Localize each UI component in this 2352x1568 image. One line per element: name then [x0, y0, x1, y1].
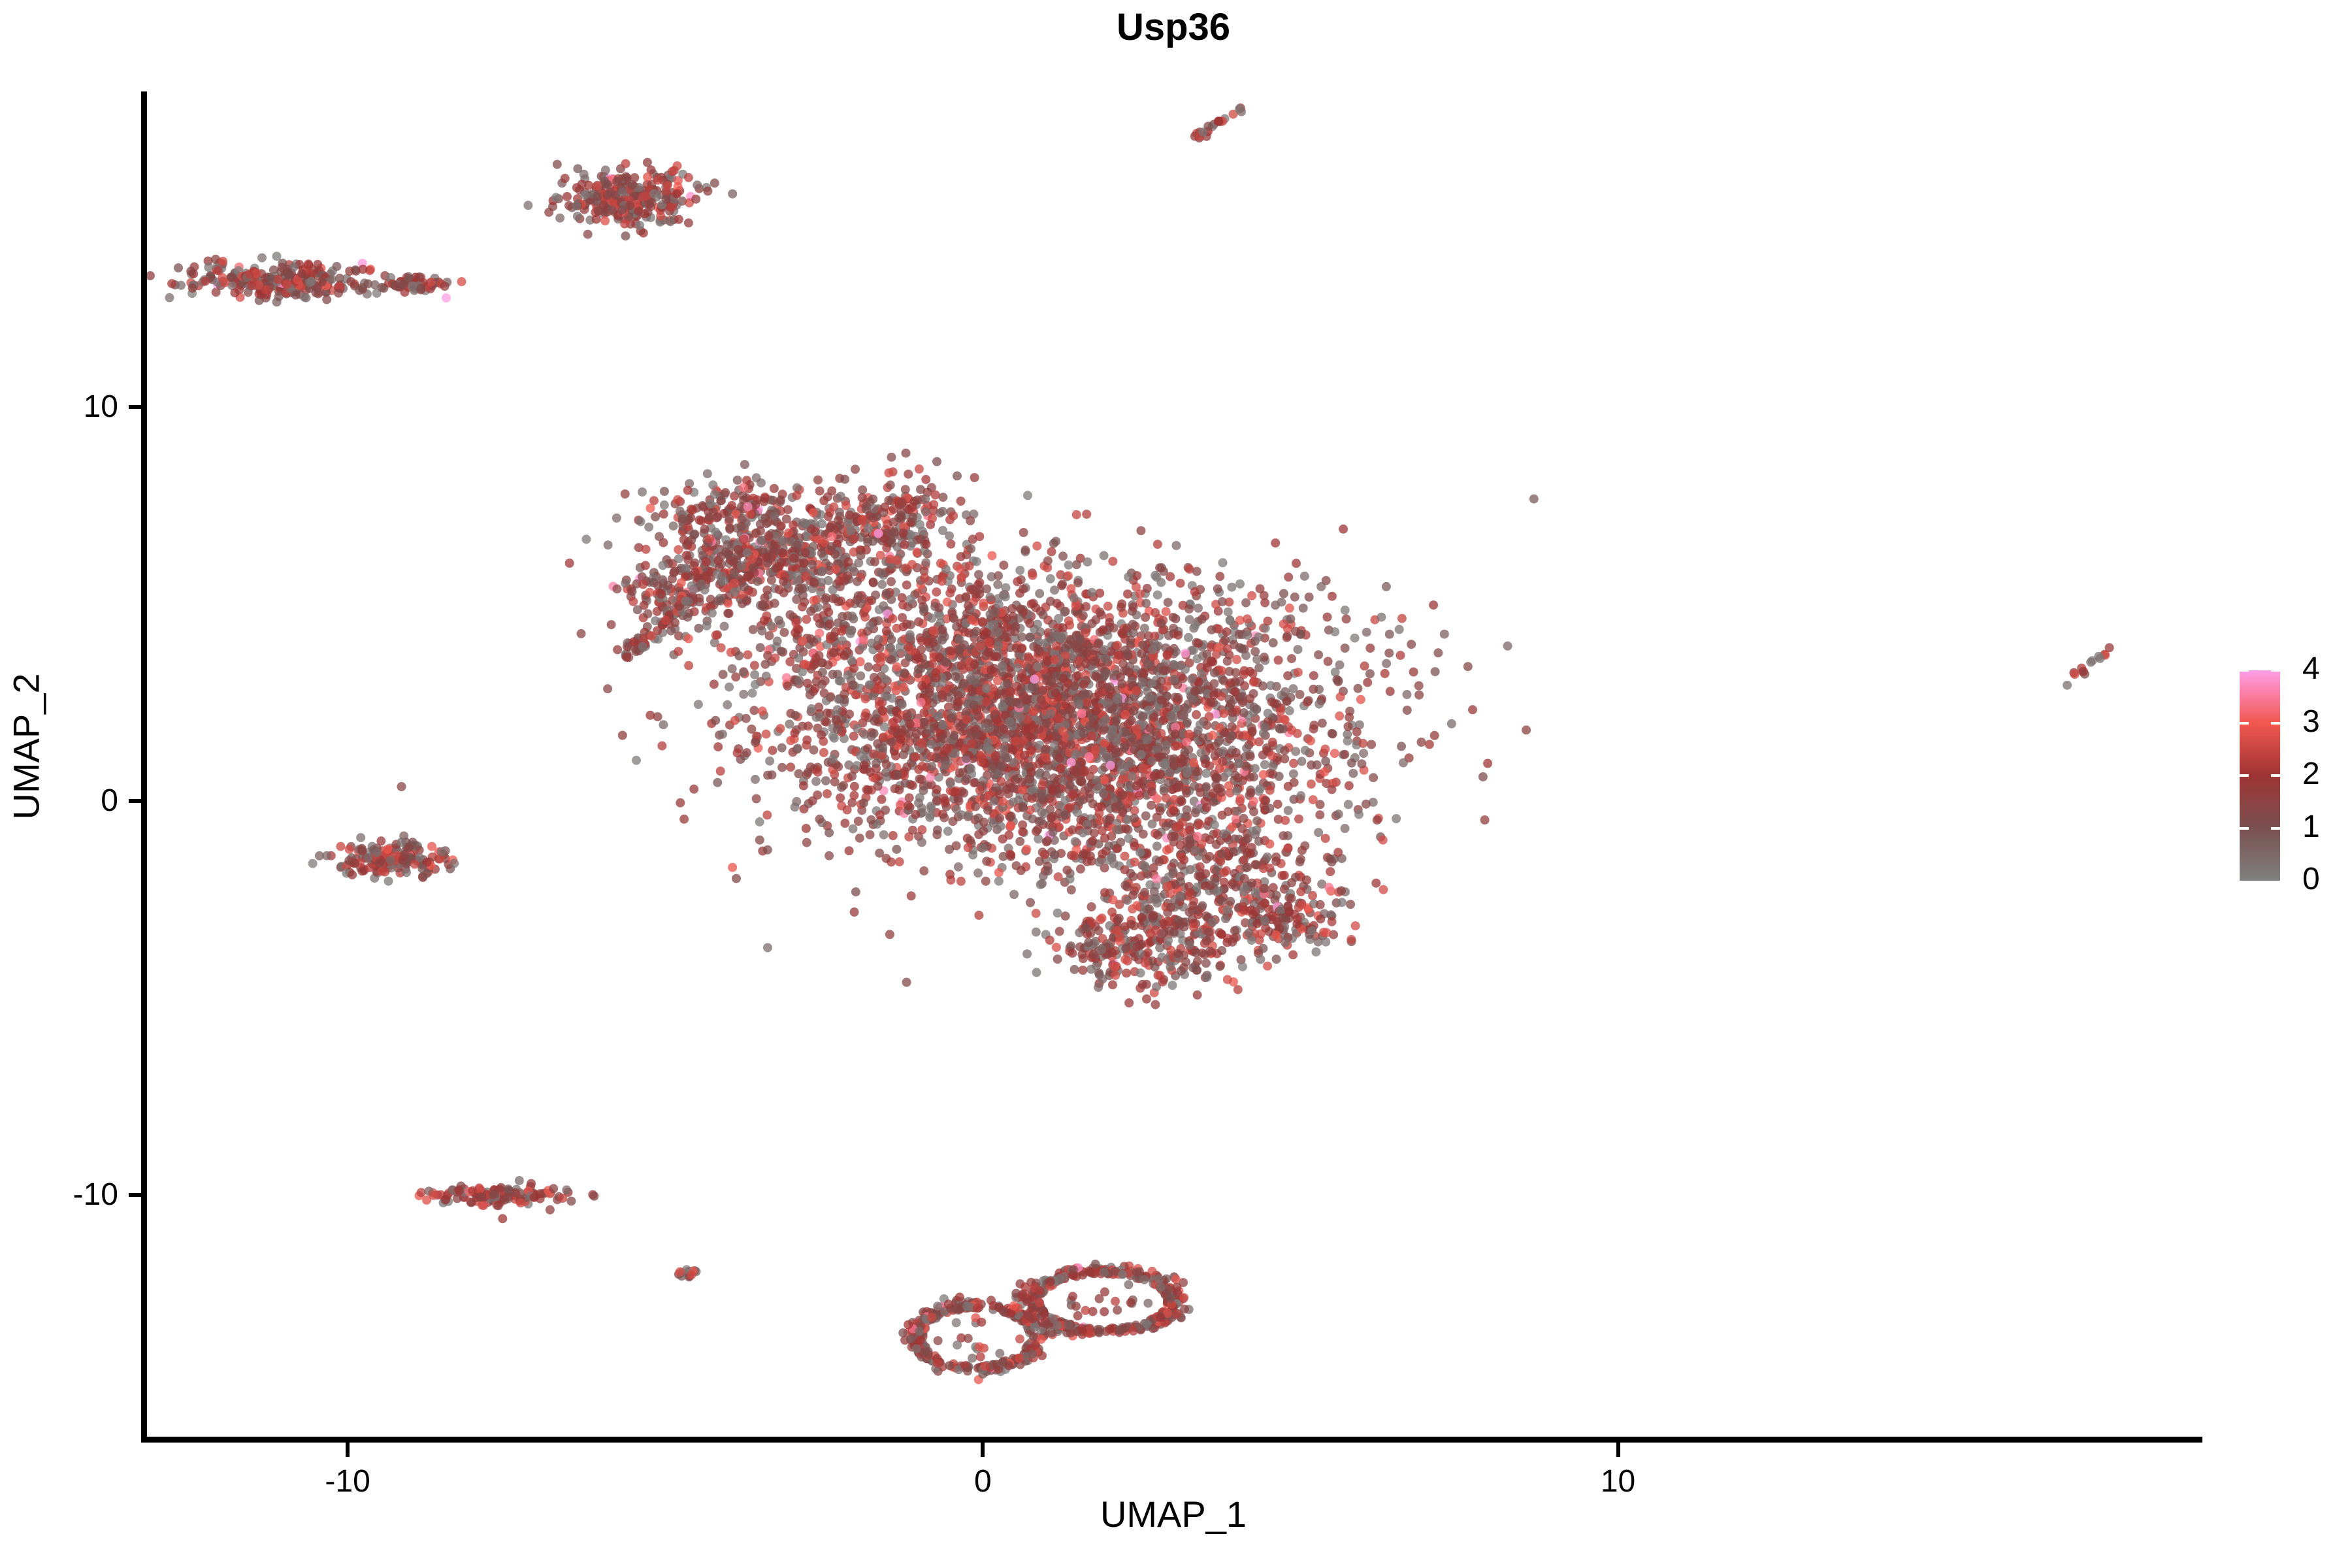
colorbar-tick — [2240, 669, 2280, 672]
scatter-plot-figure: Usp36 -10010-10010 UMAP_2 UMAP_1 01234 — [0, 0, 2352, 1568]
x-axis-title: UMAP_1 — [144, 1493, 2202, 1535]
colorbar-tick — [2240, 774, 2280, 777]
colorbar-tick — [2240, 722, 2280, 725]
x-axis-line — [144, 1437, 2202, 1443]
plot-panel — [144, 91, 2202, 1439]
y-tick-mark — [129, 799, 143, 803]
colorbar-tick-label: 3 — [2302, 706, 2320, 738]
x-tick-mark — [1616, 1443, 1620, 1457]
colorbar-tick-label: 2 — [2302, 759, 2320, 790]
colorbar-tick-label: 0 — [2302, 864, 2320, 895]
y-axis-title: UMAP_2 — [5, 551, 48, 943]
colorbar-tick — [2240, 827, 2280, 830]
plot-title-container: Usp36 — [144, 5, 2202, 49]
x-tick-mark — [346, 1443, 350, 1457]
y-tick-label: -10 — [0, 1177, 118, 1213]
page-title: Usp36 — [1117, 6, 1230, 48]
y-axis-line — [141, 91, 147, 1443]
y-tick-label: 10 — [0, 389, 118, 425]
colorbar-tick-label: 4 — [2302, 653, 2320, 685]
scatter-points-layer — [144, 91, 2202, 1439]
y-tick-mark — [129, 405, 143, 409]
colorbar-legend: 01234 — [2240, 670, 2351, 886]
x-tick-mark — [981, 1443, 985, 1457]
colorbar-tick-label: 1 — [2302, 811, 2320, 843]
y-tick-mark — [129, 1193, 143, 1197]
